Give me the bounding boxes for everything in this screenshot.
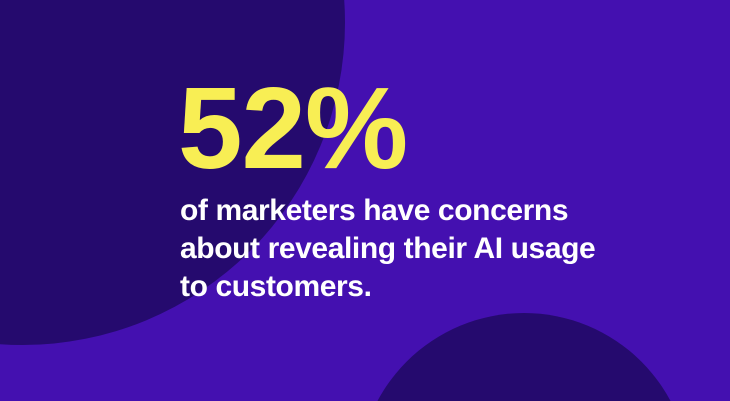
stat-description-line-2: about revealing their AI usage	[180, 230, 595, 268]
stat-percentage: 52%	[178, 70, 407, 186]
stat-content: 52% of marketers have concerns about rev…	[180, 0, 720, 401]
stat-card: 52% of marketers have concerns about rev…	[0, 0, 730, 401]
stat-description: of marketers have concerns about reveali…	[180, 192, 595, 306]
stat-description-line-3: to customers.	[180, 268, 595, 306]
stat-description-line-1: of marketers have concerns	[180, 192, 595, 230]
